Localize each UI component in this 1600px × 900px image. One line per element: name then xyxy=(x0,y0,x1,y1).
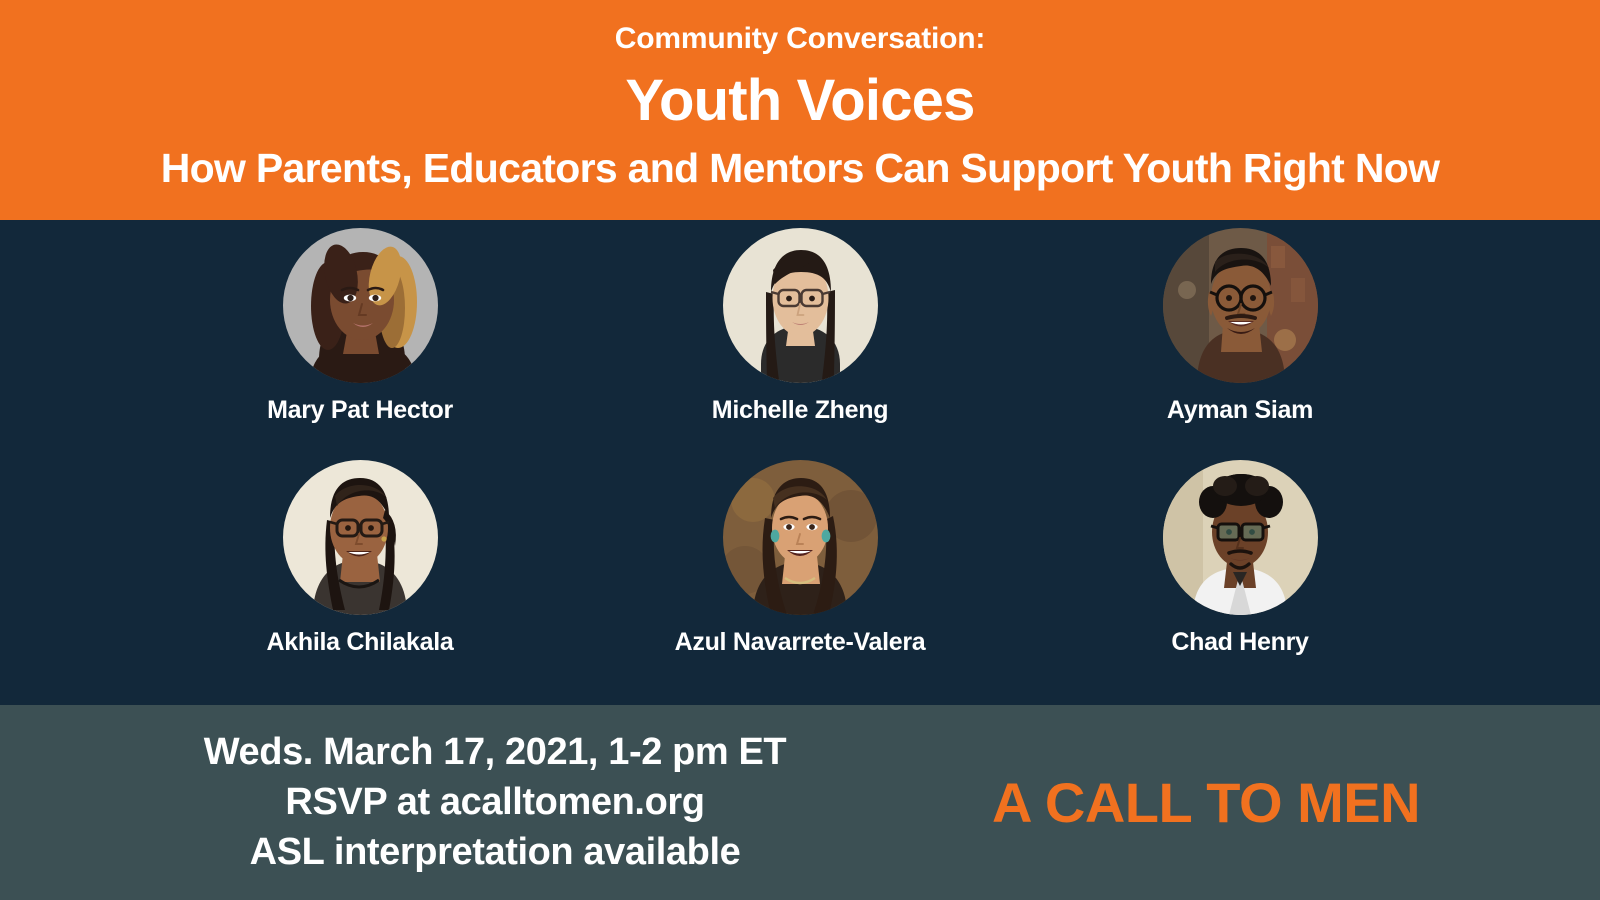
speaker-name: Ayman Siam xyxy=(1167,397,1313,425)
avatar xyxy=(283,228,438,383)
avatar xyxy=(723,460,878,615)
avatar xyxy=(283,460,438,615)
poster-footer: Weds. March 17, 2021, 1-2 pm ET RSVP at … xyxy=(0,705,1600,900)
speaker-card: Azul Navarrete-Valera xyxy=(590,460,1010,657)
header-kicker: Community Conversation: xyxy=(615,22,985,55)
speakers-row-2: Akhila Chilakala xyxy=(150,460,1450,692)
avatar xyxy=(723,228,878,383)
event-rsvp[interactable]: RSVP at acalltomen.org xyxy=(0,777,990,827)
avatar xyxy=(1163,460,1318,615)
speaker-card: Ayman Siam xyxy=(1030,228,1450,425)
speaker-card: Mary Pat Hector xyxy=(150,228,570,425)
speaker-card: Chad Henry xyxy=(1030,460,1450,657)
speaker-card: Michelle Zheng xyxy=(590,228,1010,425)
speaker-name: Azul Navarrete-Valera xyxy=(675,629,926,657)
speakers-row-1: Mary Pat Hector xyxy=(150,228,1450,460)
speaker-name: Chad Henry xyxy=(1171,629,1308,657)
avatar xyxy=(1163,228,1318,383)
event-accessibility: ASL interpretation available xyxy=(0,827,990,877)
poster-header: Community Conversation: Youth Voices How… xyxy=(0,0,1600,220)
brand-logo: A CALL TO MEN xyxy=(990,705,1600,900)
speakers-section: Mary Pat Hector xyxy=(0,220,1600,705)
speaker-name: Mary Pat Hector xyxy=(267,397,453,425)
brand-logo-text: A CALL TO MEN xyxy=(992,770,1420,835)
header-subtitle: How Parents, Educators and Mentors Can S… xyxy=(161,146,1440,191)
event-datetime: Weds. March 17, 2021, 1-2 pm ET xyxy=(0,727,990,777)
speaker-card: Akhila Chilakala xyxy=(150,460,570,657)
speaker-name: Akhila Chilakala xyxy=(267,629,454,657)
event-details: Weds. March 17, 2021, 1-2 pm ET RSVP at … xyxy=(0,727,990,877)
event-poster: Community Conversation: Youth Voices How… xyxy=(0,0,1600,900)
speaker-name: Michelle Zheng xyxy=(712,397,888,425)
page-title: Youth Voices xyxy=(625,71,974,132)
